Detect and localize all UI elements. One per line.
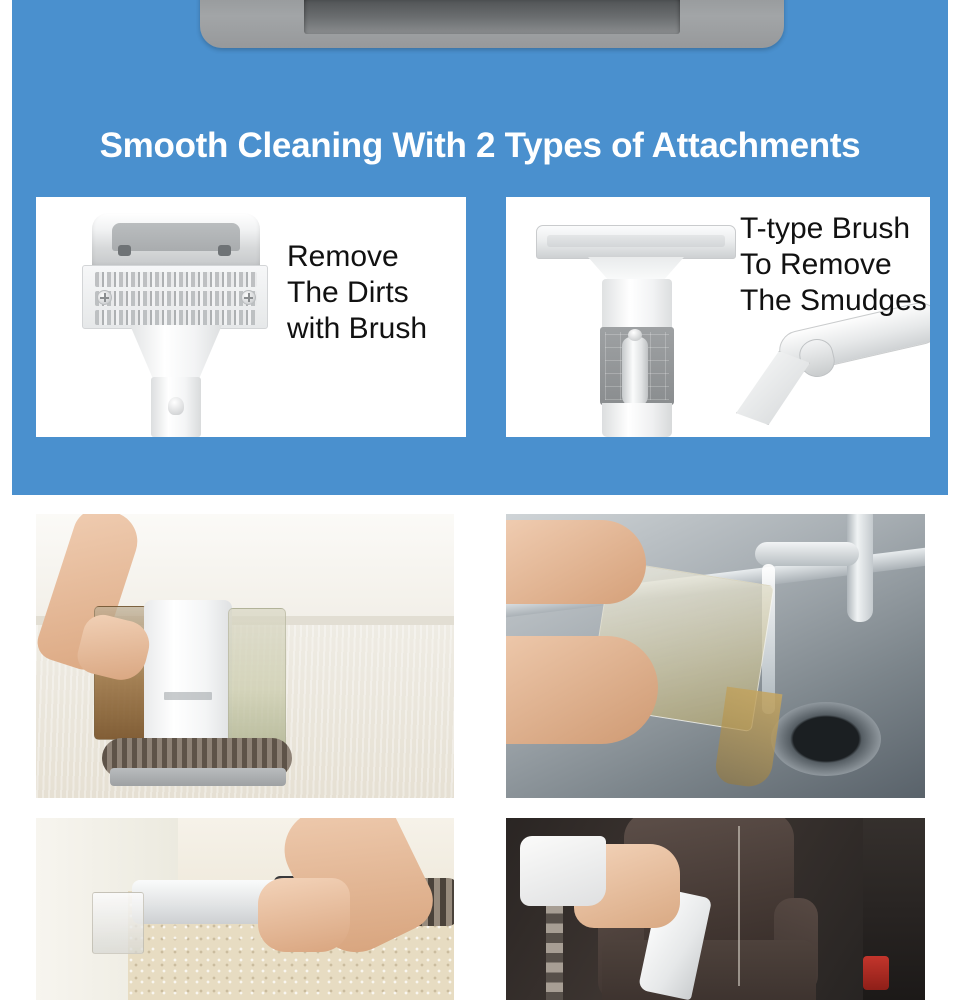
photo-car-seat: [506, 818, 925, 1000]
attachment-card-t-type-brush: T-type Brush To Remove The Smudges: [506, 197, 930, 437]
t-brush-body: [602, 279, 672, 329]
attachment-card-brush: Remove The Dirts with Brush: [36, 197, 466, 437]
sink-drain: [771, 702, 881, 776]
brush-caption-line: with Brush: [287, 311, 427, 347]
cleaner-base: [110, 768, 286, 786]
brand-mark: [164, 692, 212, 700]
brush-caption: Remove The Dirts with Brush: [287, 239, 427, 347]
screw-icon: [97, 290, 112, 305]
cleaner-body: [144, 600, 232, 756]
bristle-row: [95, 272, 257, 287]
t-brush-crossbar: [536, 225, 736, 259]
hand-upper: [506, 520, 646, 604]
bristle-row: [95, 291, 257, 306]
nozzle-head: [92, 892, 144, 954]
seat-stitching: [738, 826, 740, 986]
seatbelt-buckle: [863, 956, 889, 990]
brush-hood-clip-right: [218, 245, 231, 256]
vacuum-nozzle-base-graphic: [200, 0, 784, 48]
screw-icon: [241, 290, 256, 305]
brush-stem-knob: [168, 397, 184, 415]
handle-attachment-icon: [724, 313, 930, 429]
faucet-stem: [847, 514, 873, 622]
page-title: Smooth Cleaning With 2 Types of Attachme…: [20, 126, 940, 166]
clean-water-tank: [228, 608, 286, 748]
t-type-brush-caption-line: T-type Brush: [740, 211, 927, 247]
hand: [258, 878, 350, 952]
brush-hood: [92, 213, 260, 269]
photo-carpet-edge: [36, 818, 454, 1000]
t-brush-piston: [622, 337, 648, 407]
roller-brush-attachment-icon: [70, 213, 280, 437]
bristle-row: [95, 310, 257, 325]
attachments-feature-panel: Smooth Cleaning With 2 Types of Attachme…: [12, 0, 948, 495]
photo-tank-removal: [36, 514, 454, 798]
hand-lower: [506, 636, 658, 744]
shirt-sleeve: [520, 836, 606, 906]
t-type-brush-caption-line: The Smudges: [740, 283, 927, 319]
faucet-spout: [755, 542, 859, 566]
t-brush-wedge: [588, 257, 684, 281]
handle-blade-nozzle: [736, 351, 810, 425]
t-type-brush-caption: T-type Brush To Remove The Smudges: [740, 211, 927, 319]
brush-caption-line: The Dirts: [287, 275, 427, 311]
brush-hood-clip-left: [118, 245, 131, 256]
t-type-brush-attachment-icon: [536, 225, 746, 437]
t-type-brush-caption-line: To Remove: [740, 247, 927, 283]
brush-face-plate: [82, 265, 268, 329]
photo-sink-rinse: [506, 514, 925, 798]
brush-caption-line: Remove: [287, 239, 427, 275]
t-brush-foot: [602, 403, 672, 437]
brush-neck: [130, 325, 222, 381]
